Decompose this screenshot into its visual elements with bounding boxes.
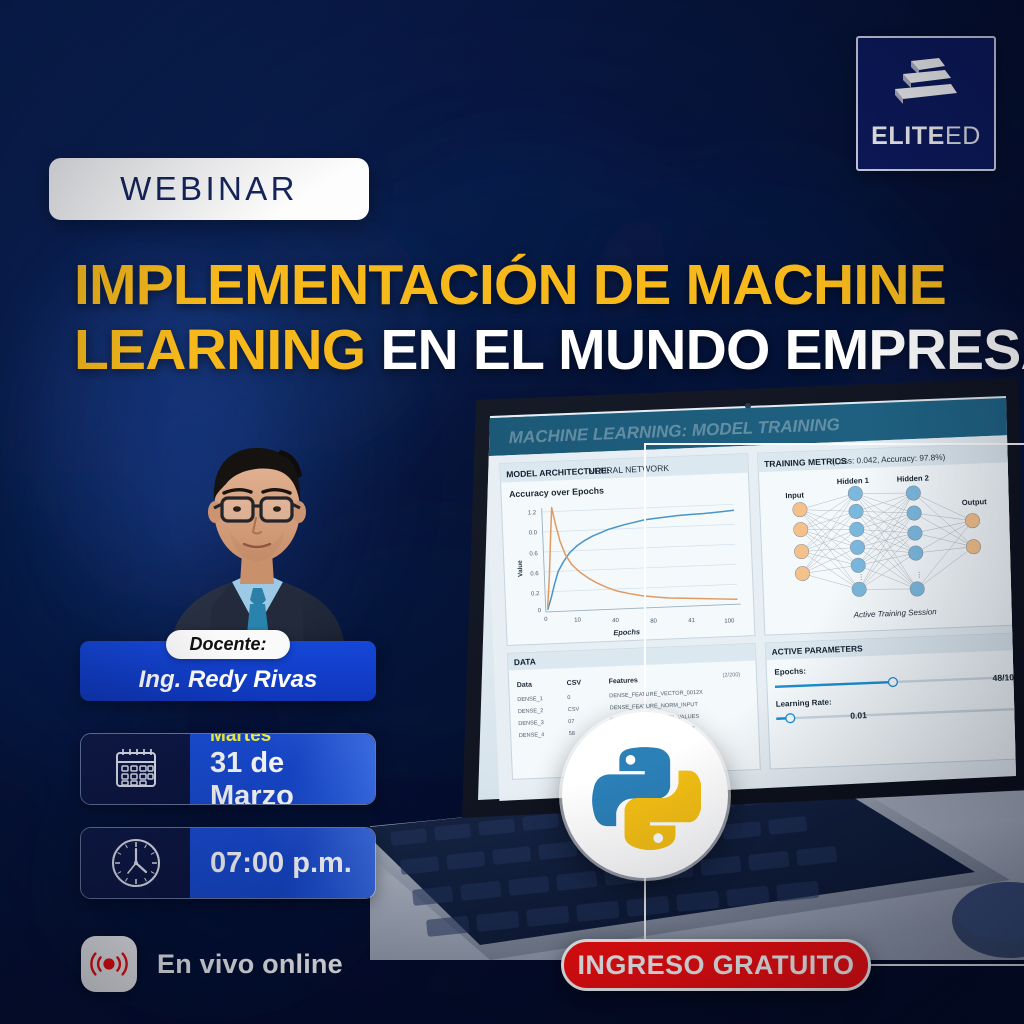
cta-button[interactable]: INGRESO GRATUITO [561,939,871,991]
title-line-1-text: IMPLEMENTACIÓN DE MACHINE [74,253,946,317]
time-value: 07:00 p.m. [210,847,375,880]
title-line-2: LEARNING EN EL MUNDO EMPRESARIAL [74,321,944,380]
svg-text:DENSE_1: DENSE_1 [517,696,543,703]
svg-text:0.0: 0.0 [529,530,538,536]
live-badge: En vivo online [81,936,343,992]
title-line-2-plain: EN EL MUNDO EMPRESARIAL [380,318,1024,382]
epochs-value: 48/100 [992,672,1019,683]
svg-text:0.6: 0.6 [530,571,539,577]
nn-label-hidden1: Hidden 1 [837,476,870,486]
webinar-badge-label: WEBINAR [120,170,298,208]
clock-icon [108,835,164,891]
nn-label-hidden2: Hidden 2 [897,473,929,483]
svg-text:DENSE_4: DENSE_4 [519,732,545,739]
svg-text:Value: Value [517,560,525,577]
nn-label-output: Output [962,497,988,507]
svg-text:Epochs: Epochs [613,627,640,637]
svg-text:10: 10 [574,617,582,623]
svg-text:41: 41 [688,618,696,624]
connector-line-horizontal [644,443,1024,445]
date-icon-cell [81,734,190,804]
lr-value: 0.01 [850,710,867,721]
svg-text:DENSE_3: DENSE_3 [518,720,544,727]
brand-name-bold: ELITE [871,122,945,150]
live-broadcast-icon [89,944,129,984]
svg-text:40: 40 [612,618,620,624]
svg-text:100: 100 [724,618,735,624]
date-text-cell: Martes 31 de Marzo [190,734,375,804]
svg-text:80: 80 [650,618,658,624]
svg-text:⋮: ⋮ [916,572,923,579]
date-value: 31 de Marzo [210,747,375,804]
svg-text:0: 0 [567,695,570,701]
connector-line-cta [644,878,646,940]
svg-text:1.2: 1.2 [528,510,537,516]
webinar-poster: MACHINE LEARNING: MODEL TRAINING MODEL A… [0,0,1024,1024]
speaker-role-badge: Docente: [166,630,290,659]
data-panel-badge: (2/200) [722,672,740,679]
connector-line-right [869,964,1024,966]
brand-name-light: ED [945,122,981,150]
cta-label: INGRESO GRATUITO [578,950,855,981]
svg-text:0.6: 0.6 [529,551,538,557]
date-row: Martes 31 de Marzo [80,733,376,805]
speaker-name: Ing. Redy Rivas [139,666,318,694]
data-panel-title: DATA [514,656,536,667]
stacked-books-icon [889,57,963,113]
nn-label-input: Input [785,490,804,500]
live-icon-box [81,936,137,992]
brand-logo: ELITEED [856,36,996,171]
connector-line-vertical [644,443,646,715]
svg-text:0.2: 0.2 [531,591,540,597]
svg-text:Data: Data [517,682,533,690]
python-logo-badge [562,712,728,878]
svg-text:CSV: CSV [568,707,580,713]
time-icon-cell [81,828,190,898]
svg-text:CSV: CSV [567,680,582,688]
time-text-cell: 07:00 p.m. [190,828,375,898]
python-icon [589,739,701,851]
svg-text:⋮: ⋮ [858,574,865,581]
title-line-2-highlight: LEARNING [74,318,365,382]
title-line-1: IMPLEMENTACIÓN DE MACHINE [74,256,944,315]
brand-name: ELITEED [871,122,981,151]
calendar-icon [111,744,161,794]
time-row: 07:00 p.m. [80,827,376,899]
svg-text:DENSE_2: DENSE_2 [518,708,544,715]
webinar-badge: WEBINAR [49,158,369,220]
svg-text:07: 07 [568,719,574,725]
svg-text:Features: Features [609,677,639,685]
epochs-label: Epochs: [774,667,806,677]
page-title: IMPLEMENTACIÓN DE MACHINE LEARNING EN EL… [74,256,944,379]
live-label: En vivo online [157,949,343,980]
svg-text:58: 58 [569,731,575,737]
date-weekday: Martes [210,734,375,747]
speaker-role-label: Docente: [189,634,266,655]
